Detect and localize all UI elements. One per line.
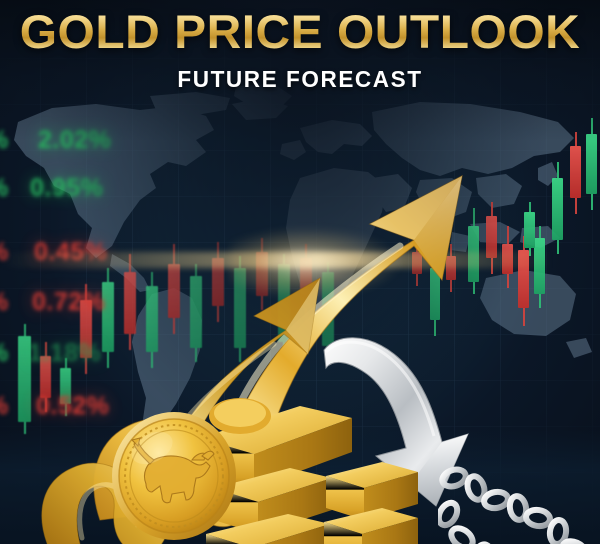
page-subtitle: FUTURE FORECAST (6, 66, 594, 93)
gold-coin-back (208, 396, 272, 436)
gold-price-outlook-poster: % 2.02% % 0.95% % 0.45% % 0.72% % 1.18% … (0, 0, 600, 544)
silver-chain (438, 460, 588, 544)
poster-heading: GOLD PRICE OUTLOOK FUTURE FORECAST (0, 8, 600, 93)
gold-bar (324, 508, 418, 544)
page-title: GOLD PRICE OUTLOOK (0, 8, 600, 56)
